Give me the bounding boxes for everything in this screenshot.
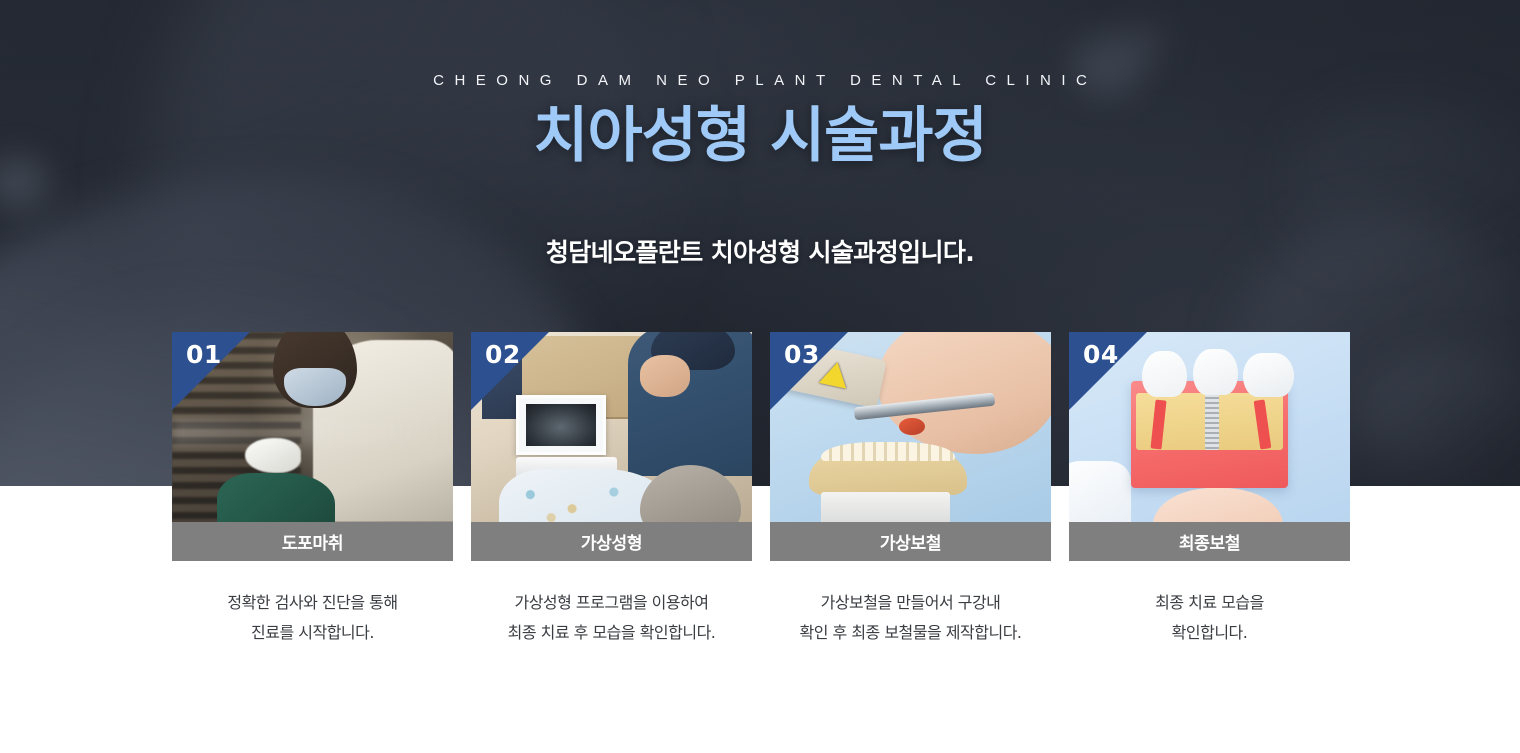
photo4-tooth-right-shape — [1243, 353, 1294, 397]
step-image-04: 04 — [1069, 332, 1350, 522]
photo4-white-sleeve-shape — [1069, 461, 1131, 522]
photo3-cast-base-shape — [821, 492, 950, 522]
step-number-04: 04 — [1083, 340, 1119, 369]
photo2-xray-image-shape — [526, 404, 597, 446]
step-number-03: 03 — [784, 340, 820, 369]
step-image-03: 03 — [770, 332, 1051, 522]
step-label-04: 최종보철 — [1069, 522, 1350, 561]
photo1-glass-sheen — [172, 419, 453, 446]
photo4-implant-screw-shape — [1205, 389, 1219, 450]
step-number-01: 01 — [186, 340, 222, 369]
step-description-01: 정확한 검사와 진단을 통해 진료를 시작합니다. — [172, 588, 453, 648]
step-number-02: 02 — [485, 340, 521, 369]
step-image-01: 01 — [172, 332, 453, 522]
page-root: CHEONG DAM NEO PLANT DENTAL CLINIC 치아성형 … — [0, 0, 1520, 753]
procedure-step-list: 01 도포마취 정확한 검사와 진단을 통해 진료를 시작합니다. — [172, 332, 1352, 648]
photo1-surgical-drape-shape — [217, 473, 335, 522]
page-title: 치아성형 시술과정 — [0, 103, 1520, 170]
procedure-step-card-01[interactable]: 01 도포마취 정확한 검사와 진단을 통해 진료를 시작합니다. — [172, 332, 453, 648]
photo3-cast-teeth-shape — [821, 442, 956, 461]
photo3-polishing-bur-shape — [899, 418, 924, 435]
page-subtitle: 청담네오플란트 치아성형 시술과정입니다. — [0, 233, 1520, 269]
step-description-04: 최종 치료 모습을 확인합니다. — [1069, 588, 1350, 648]
step-label-02: 가상성형 — [471, 522, 752, 561]
step-label-01: 도포마취 — [172, 522, 453, 561]
photo4-fingers-shape — [1153, 488, 1282, 522]
procedure-step-card-04[interactable]: 04 최종보철 최종 치료 모습을 확인합니다. — [1069, 332, 1350, 648]
procedure-step-card-03[interactable]: 03 가상보철 가상보철을 만들어서 구강내 확인 후 최종 보철물을 제작합니… — [770, 332, 1051, 648]
clinic-name-eyebrow: CHEONG DAM NEO PLANT DENTAL CLINIC — [0, 72, 1520, 89]
step-image-02: 02 — [471, 332, 752, 522]
photo4-tooth-center-crown-shape — [1193, 349, 1238, 395]
step-description-02: 가상성형 프로그램을 이용하여 최종 치료 후 모습을 확인합니다. — [471, 588, 752, 648]
photo2-surgeon-face-shape — [640, 355, 691, 397]
photo4-tooth-left-shape — [1142, 351, 1187, 397]
step-description-03: 가상보철을 만들어서 구강내 확인 후 최종 보철물을 제작합니다. — [770, 588, 1051, 648]
step-label-03: 가상보철 — [770, 522, 1051, 561]
hero-text-block: CHEONG DAM NEO PLANT DENTAL CLINIC 치아성형 … — [0, 0, 1520, 269]
procedure-step-card-02[interactable]: 02 가상성형 가상성형 프로그램을 이용하여 최종 치료 후 모습을 확인합니… — [471, 332, 752, 648]
photo3-hand-shape — [877, 332, 1051, 454]
